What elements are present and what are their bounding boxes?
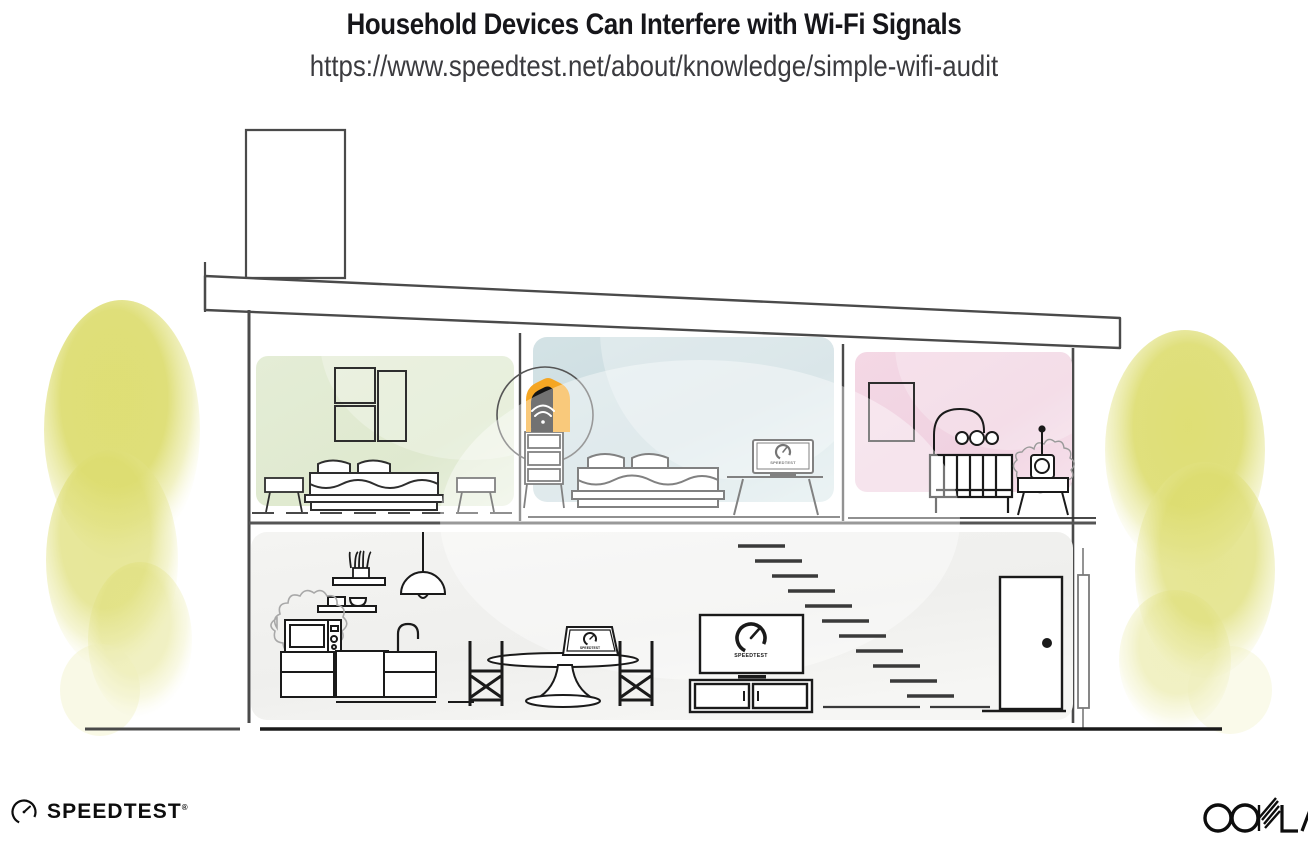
ookla-logo-icon [1196, 792, 1308, 838]
foliage-right [1105, 330, 1275, 734]
speedtest-gauge-icon [10, 798, 38, 826]
microwave[interactable] [285, 620, 341, 652]
nursery-side-table [1018, 478, 1068, 515]
laptop[interactable]: SPEEDTEST [563, 627, 618, 655]
laptop-screen-label: SPEEDTEST [580, 646, 601, 650]
speedtest-wordmark: SPEEDTEST® [47, 800, 188, 824]
foliage-left [44, 300, 200, 736]
media-console [690, 680, 812, 712]
kitchen-wall-shelf-upper [333, 578, 385, 585]
television[interactable]: SPEEDTEST [700, 615, 803, 679]
footer-ookla-logo [1196, 792, 1308, 843]
brand-trademark: ® [182, 803, 188, 812]
chimney [246, 130, 345, 278]
house-cutaway-illustration: SPEEDTEST [0, 0, 1308, 861]
kitchen-counters [281, 651, 436, 697]
brand-name-text: SPEEDTEST [47, 800, 182, 823]
window-panel [1078, 548, 1089, 730]
entry-door[interactable] [1000, 577, 1062, 709]
tv-screen-label: SPEEDTEST [734, 653, 768, 659]
footer-speedtest-brand: SPEEDTEST® [10, 798, 188, 826]
